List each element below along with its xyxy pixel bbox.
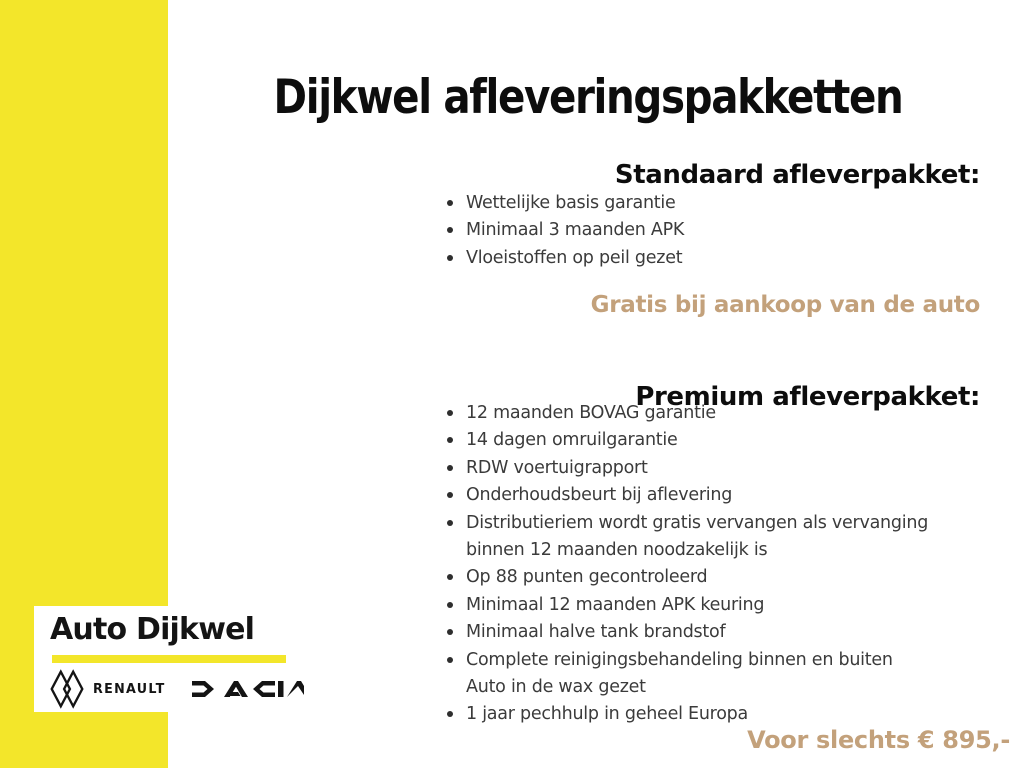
list-item-text: RDW voertuigrapport <box>466 455 928 482</box>
standard-package-list: Wettelijke basis garantie Minimaal 3 maa… <box>444 190 684 272</box>
bullet-icon <box>447 200 453 206</box>
list-item-text: 14 dagen omruilgarantie <box>466 427 928 454</box>
standard-package-note: Gratis bij aankoop van de auto <box>591 292 980 318</box>
premium-package-price-note: Voor slechts € 895,- <box>747 726 1010 754</box>
premium-package-list: 12 maanden BOVAG garantie 14 dagen omrui… <box>444 400 928 729</box>
list-item-text-continued: binnen 12 maanden noodzakelijk is <box>466 537 928 564</box>
list-item-text: Minimaal 12 maanden APK keuring <box>466 592 928 619</box>
list-item-text: Onderhoudsbeurt bij aflevering <box>466 482 928 509</box>
bullet-icon <box>447 574 453 580</box>
list-item-text: Vloeistoffen op peil gezet <box>466 245 684 272</box>
bullet-icon <box>447 711 453 717</box>
renault-label: RENAULT <box>93 681 166 697</box>
list-item-text: Minimaal 3 maanden APK <box>466 217 684 244</box>
bullet-icon <box>447 465 453 471</box>
list-item-text: Minimaal halve tank brandstof <box>466 619 928 646</box>
list-item: Onderhoudsbeurt bij aflevering <box>444 482 928 509</box>
bullet-icon <box>447 492 453 498</box>
bullet-icon <box>447 437 453 443</box>
list-item-text: Wettelijke basis garantie <box>466 190 684 217</box>
list-item: Minimaal halve tank brandstof <box>444 619 928 646</box>
bullet-icon <box>447 520 453 526</box>
logo-yellow-rule <box>52 655 286 663</box>
bullet-icon <box>447 410 453 416</box>
list-item: Distributieriem wordt gratis vervangen a… <box>444 510 928 565</box>
renault-diamond-icon <box>48 669 86 709</box>
list-item: 12 maanden BOVAG garantie <box>444 400 928 427</box>
list-item-text-continued: Auto in de wax gezet <box>466 674 928 701</box>
bullet-icon <box>447 255 453 261</box>
list-item-text: Complete reinigingsbehandeling binnen en… <box>466 647 928 674</box>
list-item: Minimaal 3 maanden APK <box>444 217 684 244</box>
dealer-wordmark: Auto Dijkwel <box>50 612 254 647</box>
list-item-text: Op 88 punten gecontroleerd <box>466 564 928 591</box>
list-item: Vloeistoffen op peil gezet <box>444 245 684 272</box>
list-item-text: 1 jaar pechhulp in geheel Europa <box>466 701 928 728</box>
list-item-text: 12 maanden BOVAG garantie <box>466 400 928 427</box>
brand-row: RENAULT <box>48 669 298 709</box>
bullet-icon <box>447 657 453 663</box>
list-item: Complete reinigingsbehandeling binnen en… <box>444 647 928 702</box>
delivery-packages-infographic: { "theme": { "band_yellow": "#f3e62a", "… <box>0 0 1024 768</box>
list-item: Op 88 punten gecontroleerd <box>444 564 928 591</box>
bullet-icon <box>447 227 453 233</box>
standard-package-heading: Standaard afleverpakket: <box>615 160 980 190</box>
bullet-icon <box>447 629 453 635</box>
page-title: Dijkwel afleveringspakketten <box>227 73 949 122</box>
list-item: Wettelijke basis garantie <box>444 190 684 217</box>
list-item: 14 dagen omruilgarantie <box>444 427 928 454</box>
bullet-icon <box>447 602 453 608</box>
list-item-text: Distributieriem wordt gratis vervangen a… <box>466 510 928 537</box>
list-item: RDW voertuigrapport <box>444 455 928 482</box>
list-item: 1 jaar pechhulp in geheel Europa <box>444 701 928 728</box>
dealer-logo-card: Auto Dijkwel RENAULT <box>34 606 305 712</box>
dacia-wordmark-icon <box>192 679 304 699</box>
list-item: Minimaal 12 maanden APK keuring <box>444 592 928 619</box>
